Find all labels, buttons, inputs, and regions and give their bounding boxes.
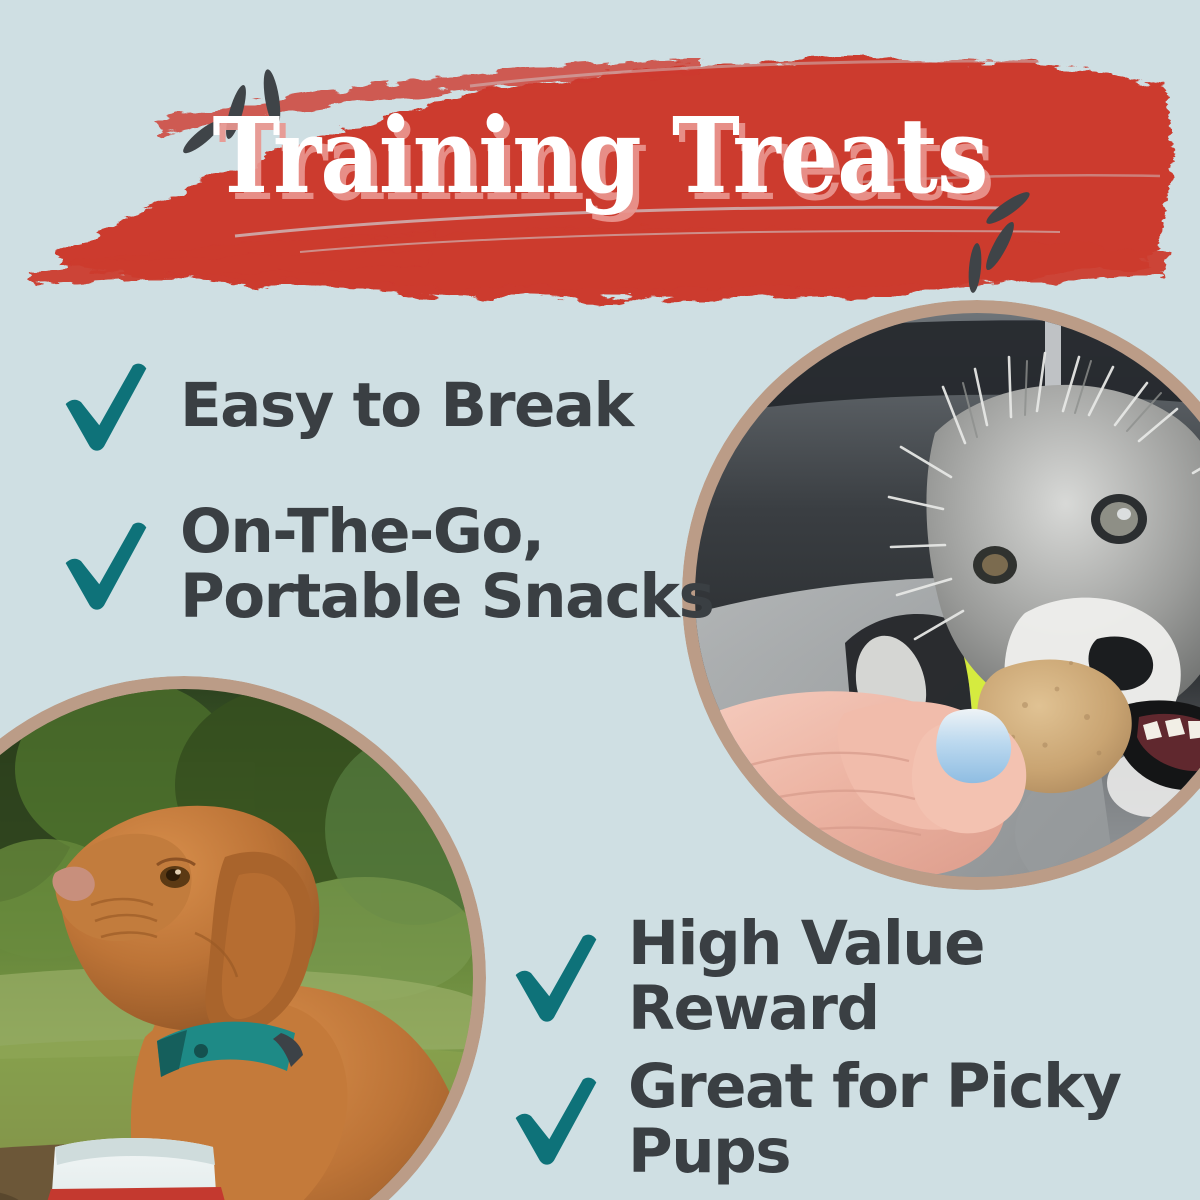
benefit-label: Easy to Break xyxy=(180,374,633,439)
benefit-label: Great for Picky Pups xyxy=(628,1055,1200,1184)
check-icon xyxy=(58,358,154,454)
check-icon xyxy=(508,929,604,1025)
header-banner: Training Treats xyxy=(0,0,1200,320)
benefit-item-picky-pups: Great for Picky Pups xyxy=(508,1055,1200,1184)
benefit-item-high-value-reward: High Value Reward xyxy=(508,912,1200,1041)
infographic-canvas: Training Treats xyxy=(0,0,1200,1200)
photo-vizsla-with-bag: FARM TO PET Fish Chips xyxy=(0,676,486,1200)
check-icon xyxy=(508,1072,604,1168)
bag-brand-banner: FARM TO PET xyxy=(45,1187,227,1200)
photo-image-vizsla-with-bag: FARM TO PET Fish Chips xyxy=(0,689,473,1200)
benefit-item-on-the-go: On-The-Go, Portable Snacks xyxy=(58,500,713,629)
check-icon xyxy=(58,517,154,613)
benefit-label: On-The-Go, Portable Snacks xyxy=(180,500,713,629)
product-bag: FARM TO PET Fish Chips xyxy=(45,1138,227,1200)
photo-dog-taking-treat xyxy=(682,300,1200,890)
benefit-item-easy-to-break: Easy to Break xyxy=(58,358,633,454)
page-title: Training Treats xyxy=(72,104,1128,208)
photo-image-dog-taking-treat xyxy=(695,313,1200,877)
benefit-label: High Value Reward xyxy=(628,912,1200,1041)
